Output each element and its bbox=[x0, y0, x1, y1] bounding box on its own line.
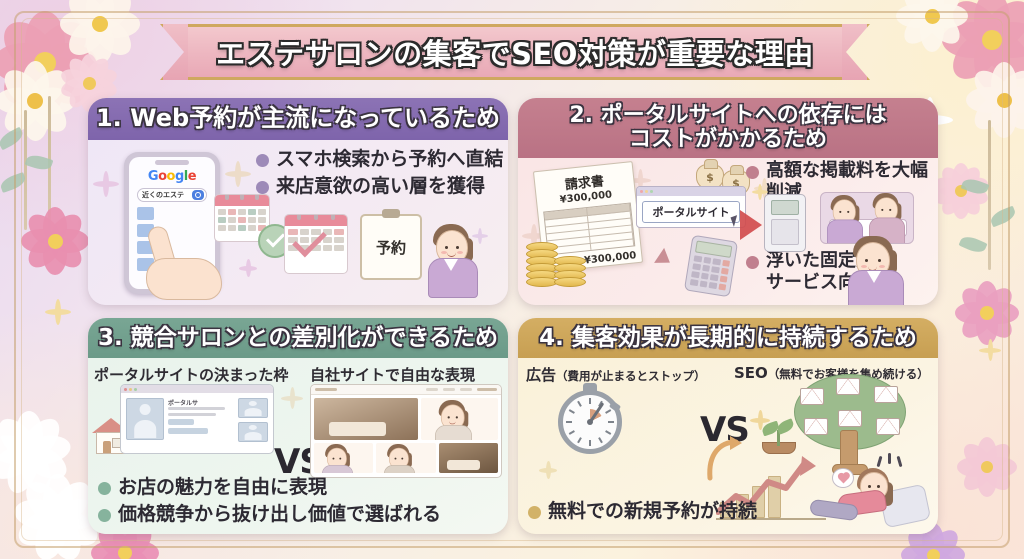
curved-arrow-icon bbox=[704, 436, 744, 482]
infographic-canvas: エステサロンの集客でSEO対策が重要な理由 1. Web予約が主流になっているた… bbox=[0, 0, 1024, 559]
heart-icon bbox=[838, 473, 848, 483]
panel-3-heading: 3. 競合サロンとの差別化ができるため bbox=[88, 318, 508, 358]
flower-decoration bbox=[0, 408, 74, 498]
bullet-text: 無料での新規予約が持続 bbox=[548, 500, 757, 523]
panel-2-heading-line1: 2. ポータルサイトへの依存には bbox=[569, 104, 886, 128]
sublabel-ad-main: 広告 bbox=[526, 366, 556, 384]
clipboard-label: 予約 bbox=[376, 237, 406, 258]
bullet-text: 来店意欲の高い層を獲得 bbox=[276, 175, 485, 198]
avatar-placeholder bbox=[238, 398, 268, 418]
envelope-icon bbox=[838, 410, 862, 427]
salon-room-photo bbox=[439, 443, 498, 473]
panel-1-bullets: スマホ検索から予約へ直結 来店意欲の高い層を獲得 bbox=[256, 148, 506, 202]
bullet-dot bbox=[746, 166, 759, 179]
panel-3-bullets: お店の魅力を自由に表現 価格競争から抜け出し価値で選ばれる bbox=[98, 476, 498, 530]
portal-site-label: ポータルサ bbox=[168, 398, 233, 407]
motion-line bbox=[888, 453, 891, 464]
bullet-item: 無料での新規予約が持続 bbox=[528, 500, 808, 523]
sprout-icon bbox=[760, 420, 796, 454]
portal-main-listing: ポータルサ bbox=[126, 398, 233, 442]
salon-room-photo bbox=[314, 398, 418, 440]
leaf-decoration bbox=[0, 127, 26, 151]
panel-4-body: 広告（費用が止まるとストップ） SEO（無料でお客様を集め続ける） VS bbox=[518, 358, 938, 534]
envelope-icon bbox=[876, 418, 900, 435]
bullet-item: スマホ検索から予約へ直結 bbox=[256, 148, 506, 171]
small-arrow-icon bbox=[654, 248, 675, 270]
envelope-icon bbox=[800, 388, 824, 405]
envelope-icon bbox=[874, 386, 898, 403]
staff-photo bbox=[376, 443, 435, 473]
flower-decoration bbox=[18, 204, 92, 278]
bullet-dot bbox=[98, 482, 111, 495]
panel-2-body: 請求書 ¥300,000 ¥300,000 $ bbox=[518, 158, 938, 305]
search-query-text: 近くのエステ bbox=[142, 190, 184, 200]
portal-site-mockup: ポータルサ bbox=[120, 384, 274, 454]
bullet-text: お店の魅力を自由に表現 bbox=[118, 476, 327, 499]
bullet-item: 価格競争から抜け出し価値で選ばれる bbox=[98, 503, 498, 526]
search-input[interactable]: 近くのエステ bbox=[137, 188, 207, 202]
beauty-machine-icon bbox=[764, 194, 806, 252]
leaf-decoration bbox=[958, 233, 987, 255]
phone-notch bbox=[155, 160, 189, 165]
staff-photo bbox=[314, 443, 373, 473]
staff-photo bbox=[421, 398, 498, 440]
flower-decoration bbox=[58, 0, 142, 66]
sublabel-ad-note: （費用が止まるとストップ） bbox=[556, 369, 706, 383]
portal-side-listings bbox=[238, 398, 268, 442]
site-gallery-top bbox=[311, 395, 501, 443]
coin-stack bbox=[526, 242, 596, 296]
sublabel-own-site-free: 自社サイトで自由な表現 bbox=[310, 364, 475, 385]
bullet-dot bbox=[746, 256, 759, 269]
avatar-placeholder bbox=[238, 422, 268, 442]
palm bbox=[146, 258, 222, 300]
calculator-icon bbox=[684, 235, 738, 298]
envelope-icon bbox=[804, 418, 828, 435]
bullet-text: スマホ検索から予約へ直結 bbox=[276, 148, 503, 171]
calculator-keys bbox=[690, 255, 730, 290]
clipboard-clip bbox=[382, 209, 400, 218]
title-banner: エステサロンの集客でSEO対策が重要な理由 bbox=[160, 24, 870, 80]
sublabel-seo-main: SEO bbox=[734, 364, 768, 382]
listing-lines: ポータルサ bbox=[168, 398, 233, 442]
clipboard-reservation: 予約 bbox=[360, 214, 422, 280]
money-symbol: $ bbox=[706, 171, 714, 184]
client-illustration bbox=[869, 193, 893, 225]
stopwatch-icon bbox=[558, 390, 622, 454]
result-thumbnail bbox=[137, 207, 154, 220]
salon-staff-illustration bbox=[848, 236, 904, 305]
person bbox=[852, 466, 900, 516]
flower-stem bbox=[988, 120, 991, 270]
portal-layout: ポータルサ bbox=[121, 393, 273, 447]
bullet-text: 価格競争から抜け出し価値で選ばれる bbox=[118, 503, 441, 526]
panel-2-heading: 2. ポータルサイトへの依存には コストがかかるため bbox=[518, 98, 938, 158]
staff-illustration bbox=[827, 195, 851, 227]
flower-decoration bbox=[952, 278, 1022, 348]
panel-differentiation: 3. 競合サロンとの差別化ができるため ポータルサイトの決まった枠 自社サイトで… bbox=[88, 318, 508, 534]
portal-site-label: ポータルサイト bbox=[642, 201, 740, 223]
uniform bbox=[384, 465, 415, 473]
bullet-dot bbox=[256, 181, 269, 194]
browser-titlebar bbox=[637, 187, 745, 196]
panel-4-heading: 4. 集客効果が長期的に持続するため bbox=[518, 318, 938, 358]
panel-portal-cost: 2. ポータルサイトへの依存には コストがかかるため 請求書 ¥300,000 … bbox=[518, 98, 938, 305]
thought-bubble bbox=[832, 468, 854, 488]
bullet-dot bbox=[98, 509, 111, 522]
relaxing-person-illustration bbox=[818, 462, 928, 524]
leaf-decoration bbox=[961, 176, 990, 197]
panel-3-body: ポータルサイトの決まった枠 自社サイトで自由な表現 ポータルサ bbox=[88, 358, 508, 534]
panel-long-term-effect: 4. 集客効果が長期的に持続するため 広告（費用が止まるとストップ） SEO（無… bbox=[518, 318, 938, 534]
panel-1-heading: 1. Web予約が主流になっているため bbox=[88, 98, 508, 140]
search-icon[interactable] bbox=[192, 190, 204, 200]
right-arrow-icon bbox=[740, 210, 762, 240]
sublabel-portal-fixed-slot: ポータルサイトの決まった枠 bbox=[94, 364, 288, 385]
panel-4-bullets: 無料での新規予約が持続 bbox=[528, 500, 808, 527]
bullet-dot bbox=[528, 506, 541, 519]
bullet-item: お店の魅力を自由に表現 bbox=[98, 476, 498, 499]
envelope-icon bbox=[836, 378, 860, 395]
flower-stem bbox=[24, 110, 27, 230]
leaf-decoration bbox=[989, 206, 1018, 228]
search-result-item[interactable] bbox=[137, 207, 207, 220]
bullet-dot bbox=[256, 154, 269, 167]
browser-titlebar bbox=[121, 385, 273, 393]
site-navbar bbox=[311, 385, 501, 395]
panel-2-heading-line2: コストがかかるため bbox=[629, 128, 827, 152]
flower-decoration bbox=[894, 0, 970, 54]
uniform bbox=[322, 465, 353, 473]
avatar-placeholder bbox=[126, 398, 164, 440]
flower-decoration bbox=[940, 0, 1024, 92]
uniform bbox=[435, 425, 472, 440]
google-logo: Google bbox=[135, 169, 209, 184]
site-gallery-bottom bbox=[311, 443, 501, 476]
panel-web-reservation: 1. Web予約が主流になっているため Google 近くのエステ bbox=[88, 98, 508, 305]
own-site-mockup bbox=[310, 384, 502, 478]
flower-decoration bbox=[954, 434, 1020, 500]
calendar-icon bbox=[284, 214, 348, 274]
bullet-item: 来店意欲の高い層を獲得 bbox=[256, 175, 506, 198]
flower-decoration bbox=[962, 58, 1024, 142]
sublabel-ad: 広告（費用が止まるとストップ） bbox=[526, 364, 706, 385]
panel-1-body: Google 近くのエステ bbox=[88, 140, 508, 305]
portal-site-browser: ポータルサイト bbox=[636, 186, 746, 228]
page-title: エステサロンの集客でSEO対策が重要な理由 bbox=[160, 24, 870, 80]
salon-staff-illustration bbox=[428, 224, 478, 300]
